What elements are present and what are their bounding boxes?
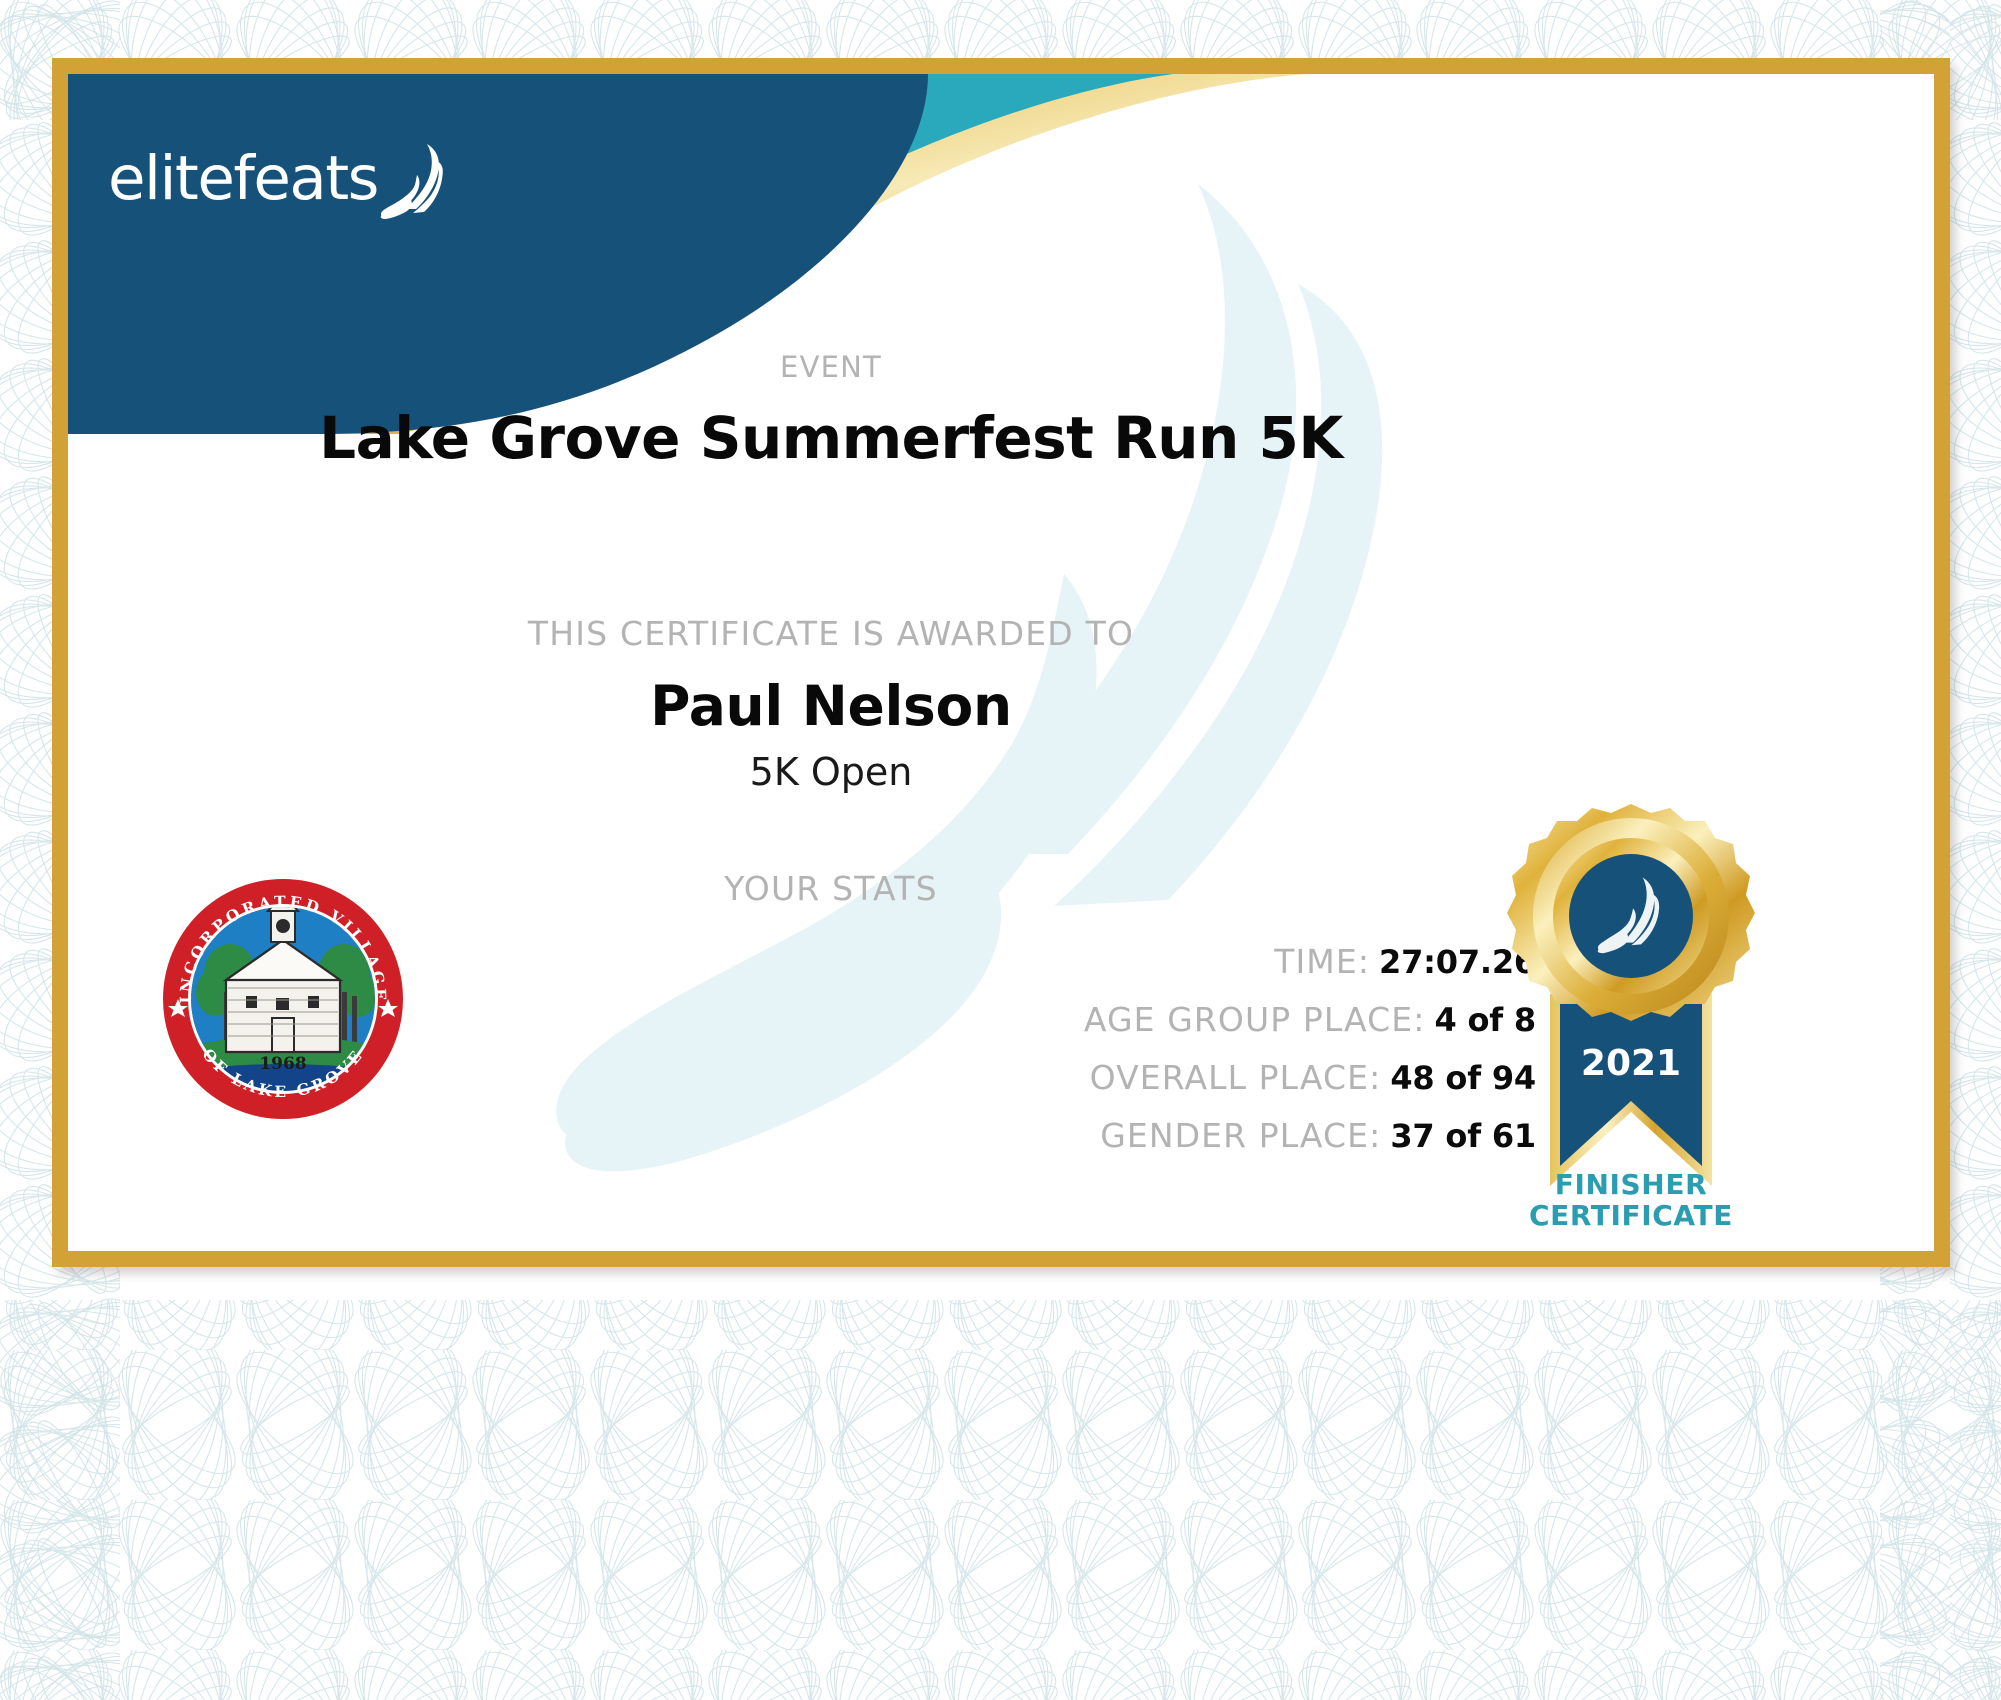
medal-caption-line2: CERTIFICATE [1466,1200,1796,1231]
certificate-page: elitefeats EVENT Lake Grove Summerf [0,0,2001,1700]
stat-key: GENDER PLACE: [1100,1116,1381,1155]
stat-key: TIME: [1274,942,1370,981]
event-title: Lake Grove Summerfest Run 5K [68,404,1594,472]
certificate-card: elitefeats EVENT Lake Grove Summerf [52,58,1950,1267]
medal-caption: FINISHER CERTIFICATE [1466,1169,1796,1232]
stat-key: OVERALL PLACE: [1090,1058,1382,1097]
recipient-division: 5K Open [68,750,1594,794]
seal-year: 1968 [259,1054,306,1074]
awarded-to-label: THIS CERTIFICATE IS AWARDED TO [68,614,1594,653]
village-seal-icon: 1968 INCORPORATED VILLAGE OF LAKE GROVE [158,874,408,1124]
stat-key: AGE GROUP PLACE: [1084,1000,1426,1039]
medal-caption-line1: FINISHER [1466,1169,1796,1200]
event-label: EVENT [68,350,1594,384]
medal-year: 2021 [1581,1043,1681,1084]
recipient-name: Paul Nelson [68,674,1594,738]
